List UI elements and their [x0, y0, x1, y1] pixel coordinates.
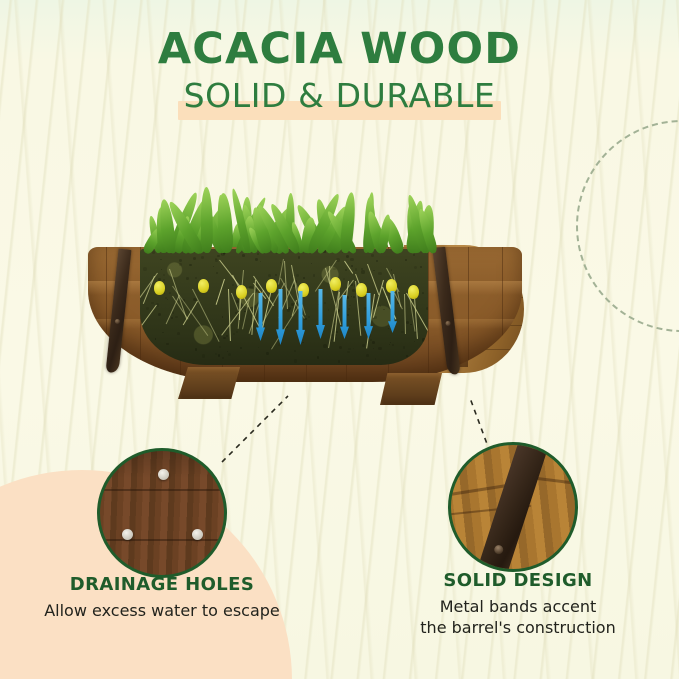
callout-drainage-holes — [97, 448, 227, 578]
drainage-holes-detail-image — [97, 448, 227, 578]
caption-body-solid-line-0: Metal bands accent — [378, 596, 658, 617]
drainage-hole-right — [192, 529, 203, 540]
metal-band-closeup — [469, 442, 552, 572]
connector-left — [222, 396, 288, 462]
infographic-canvas: ACACIA WOOD SOLID & DURABLE — [0, 0, 679, 679]
drainage-hole-left — [122, 529, 133, 540]
solid-design-detail-image — [448, 442, 578, 572]
caption-title-drainage: DRAINAGE HOLES — [22, 574, 302, 595]
caption-title-solid: SOLID DESIGN — [378, 570, 658, 591]
drainage-hole-top — [158, 469, 169, 480]
page-subtitle: SOLID & DURABLE — [184, 79, 496, 114]
caption-body-drainage-line-0: Allow excess water to escape — [22, 600, 302, 621]
caption-solid-design: SOLID DESIGN Metal bands accent the barr… — [378, 570, 658, 638]
caption-drainage-holes: DRAINAGE HOLES Allow excess water to esc… — [22, 574, 302, 621]
callout-solid-design — [448, 442, 578, 572]
caption-body-solid-line-1: the barrel's construction — [378, 617, 658, 638]
subtitle-holder: SOLID & DURABLE — [184, 79, 496, 114]
